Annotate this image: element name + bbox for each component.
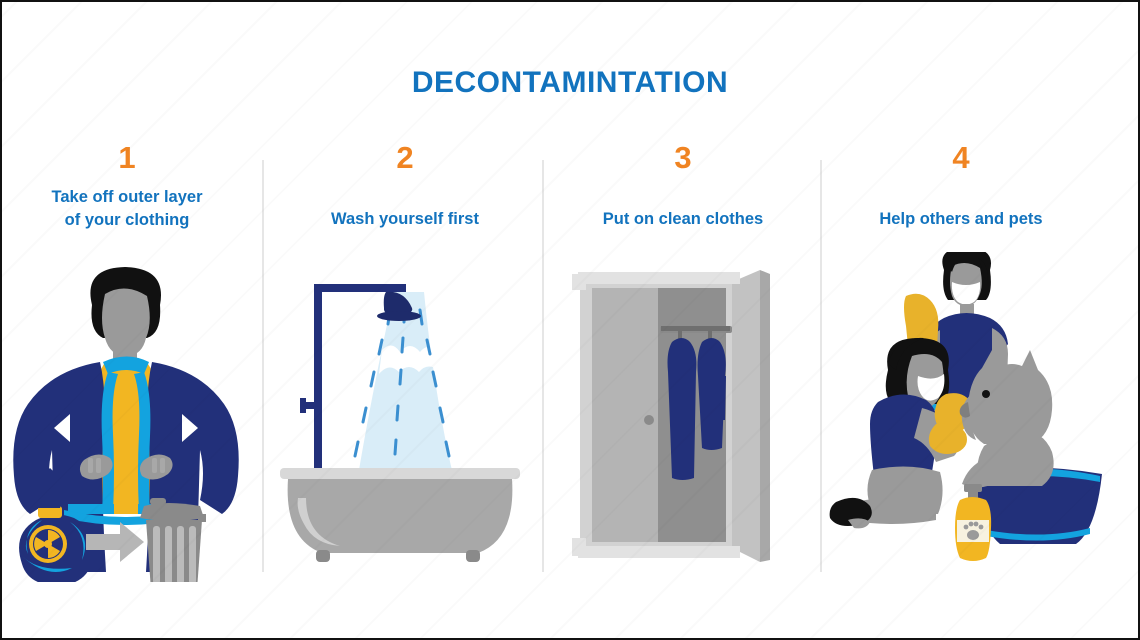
step-caption-3: Put on clean clothes [548,208,818,231]
step-column-3: 3 Put on clean clothes [548,142,818,582]
step-column-4: 4 Help others and pets [826,142,1096,582]
illustration-help-others-and-pets [826,252,1096,582]
bathtub [280,468,520,562]
step-number-3: 3 [548,142,818,178]
step-number-1: 1 [0,142,262,178]
step-number-2: 2 [270,142,540,178]
page-title: DECONTAMINTATION [2,66,1138,100]
step-caption-4-line1: Help others and pets [826,208,1096,231]
step-caption-4: Help others and pets [826,208,1096,231]
step-caption-2: Wash yourself first [270,208,540,231]
illustration-wardrobe [548,260,818,590]
column-divider-3 [820,160,822,572]
illustration-person-removing-jacket [0,252,262,582]
column-divider-2 [542,160,544,572]
trash-can [140,498,206,582]
step-caption-2-line1: Wash yourself first [270,208,540,231]
step-caption-1-line2: of your clothing [0,209,262,232]
step-caption-3-line1: Put on clean clothes [548,208,818,231]
step-caption-1: Take off outer layer of your clothing [0,186,262,233]
step-column-2: 2 Wash yourself first [270,142,540,582]
step-column-1: 1 Take off outer layer of your clothing [0,142,262,582]
step-number-4: 4 [826,142,1096,178]
step-caption-1-line1: Take off outer layer [0,186,262,209]
column-divider-1 [262,160,264,572]
decontamination-infographic: DECONTAMINTATION 1 Take off outer layer … [0,0,1140,640]
illustration-shower-and-bathtub [270,262,540,592]
